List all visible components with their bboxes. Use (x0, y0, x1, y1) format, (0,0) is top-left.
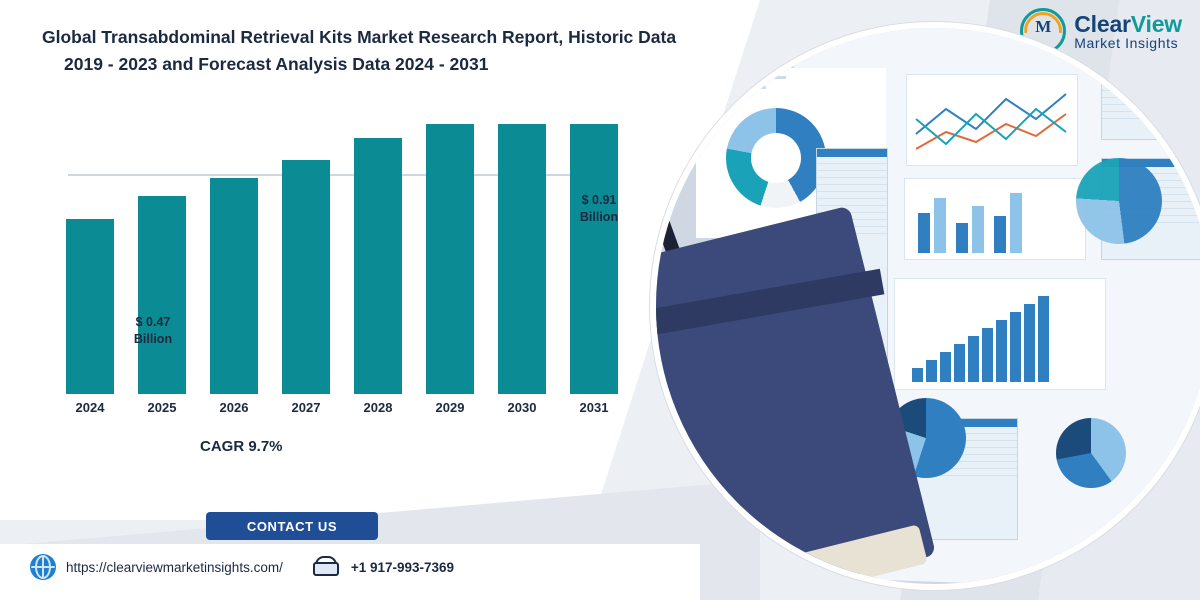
bar-2031 (570, 124, 618, 394)
x-tick-label: 2025 (134, 400, 190, 426)
chart-category-labels: 2024 2025 2026 2027 2028 2029 2030 2031 (62, 400, 622, 426)
bar-group (566, 124, 622, 394)
report-photo (650, 22, 1200, 590)
website-link[interactable]: https://clearviewmarketinsights.com/ (66, 560, 283, 575)
bar-group (134, 124, 190, 394)
bar-group (62, 124, 118, 394)
photo-line-chart-svg (906, 74, 1076, 164)
last-value-annotation: $ 0.91 Billion (554, 192, 644, 226)
photo-table (1101, 68, 1200, 140)
telephone-icon (311, 556, 341, 578)
bar-2026 (210, 178, 258, 394)
x-tick-label: 2024 (62, 400, 118, 426)
bar-2029 (426, 124, 474, 394)
x-tick-label: 2027 (278, 400, 334, 426)
page-title: Global Transabdominal Retrieval Kits Mar… (42, 24, 762, 78)
last-value-unit: Billion (554, 209, 644, 226)
x-tick-label: 2030 (494, 400, 550, 426)
x-tick-label: 2028 (350, 400, 406, 426)
bar-group (422, 124, 478, 394)
bar-group (350, 124, 406, 394)
x-tick-label: 2029 (422, 400, 478, 426)
bar-chart: 2024 2025 2026 2027 2028 2029 2030 2031 … (62, 96, 622, 426)
bar-2030 (498, 124, 546, 394)
phone-number[interactable]: +1 917-993-7369 (351, 560, 454, 575)
title-line-1: Global Transabdominal Retrieval Kits Mar… (42, 27, 676, 47)
photo-pie-chart (1076, 158, 1162, 244)
bar-2027 (282, 160, 330, 394)
first-value-amount: $ 0.47 (108, 314, 198, 331)
footer-contact-bar: https://clearviewmarketinsights.com/ +1 … (30, 554, 454, 580)
photo-pie-chart (1056, 418, 1126, 488)
bar-group (278, 124, 334, 394)
globe-icon (30, 554, 56, 580)
title-line-2: 2019 - 2023 and Forecast Analysis Data 2… (64, 51, 762, 78)
bar-group (494, 124, 550, 394)
contact-us-button[interactable]: CONTACT US (206, 512, 378, 540)
bar-2028 (354, 138, 402, 394)
bar-2025 (138, 196, 186, 394)
poster-root: M ClearView Market Insights Global Trans… (0, 0, 1200, 600)
bar-group (206, 124, 262, 394)
first-value-annotation: $ 0.47 Billion (108, 314, 198, 348)
photo-donut-hole (751, 133, 801, 183)
first-value-unit: Billion (108, 331, 198, 348)
cagr-label: CAGR 9.7% (200, 438, 283, 455)
x-tick-label: 2031 (566, 400, 622, 426)
chart-bars (62, 124, 622, 394)
last-value-amount: $ 0.91 (554, 192, 644, 209)
bar-2024 (66, 219, 114, 394)
x-tick-label: 2026 (206, 400, 262, 426)
